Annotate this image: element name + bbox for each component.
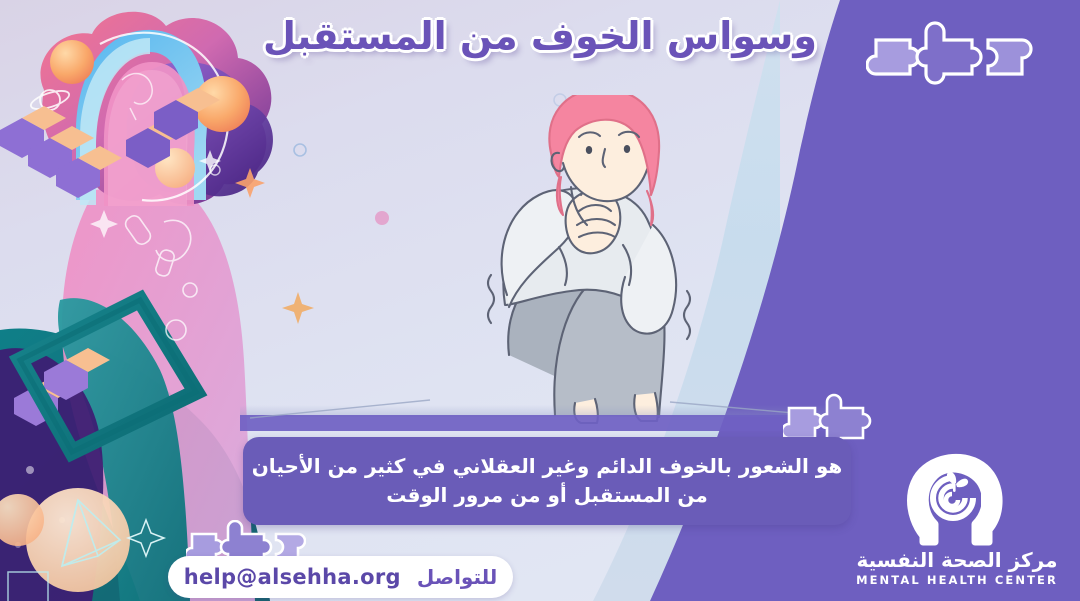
contact-pill[interactable]: للتواصل help@alsehha.org [168,556,513,598]
page-title: وسواس الخوف من المستقبل [0,14,1080,58]
brand-name-english: MENTAL HEALTH CENTER [852,573,1062,587]
description-line-2: من المستقبل أو من مرور الوقت [386,481,708,510]
poster-canvas: وسواس الخوف من المستقبل هو الشعور بالخوف… [0,0,1080,601]
description-line-1: هو الشعور بالخوف الدائم وغير العقلاني في… [252,452,843,481]
brand-name-arabic: مركز الصحة النفسية [852,548,1062,572]
description-box: هو الشعور بالخوف الدائم وغير العقلاني في… [243,437,851,525]
head-profile-spiral-plant-icon [903,450,1011,546]
contact-label: للتواصل [417,565,497,589]
brand-logo: مركز الصحة النفسية MENTAL HEALTH CENTER [852,450,1062,587]
contact-email[interactable]: help@alsehha.org [184,565,401,589]
anxious-person-illustration [447,95,737,435]
floor-perspective-lines [250,392,850,420]
